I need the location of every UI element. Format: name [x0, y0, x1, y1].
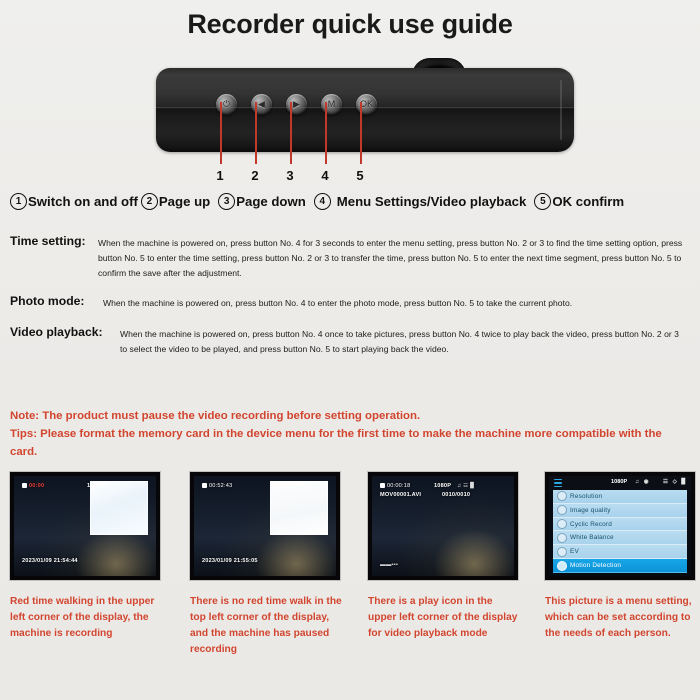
- screen-paused: 00:52:43 1080P ⚙ △ ◇ ☲ 2023/01/09 21:55:…: [194, 476, 336, 576]
- leader-number-3: 3: [283, 168, 297, 183]
- status-icons-menu-right: ☲ ◇ ▉: [663, 479, 687, 485]
- ok-icon: OK: [360, 100, 373, 109]
- legend-label-4: Menu Settings/Video playback: [337, 194, 527, 209]
- instruction-term-photo-mode: Photo mode:: [10, 293, 98, 310]
- legend-item-1: 1 Switch on and off: [10, 193, 141, 210]
- menu-label-motion-detection: Motion Detection: [570, 562, 621, 569]
- caption-recording: Red time walking in the upper left corne…: [10, 594, 160, 642]
- paused-indicator: 00:52:43: [202, 483, 232, 489]
- timestamp-2: 2023/01/09 21:55:05: [202, 558, 258, 564]
- device-body: ⏻ ◀ ▶ M OK: [156, 68, 574, 152]
- legend-label-3: Page down: [236, 194, 306, 209]
- ev-icon: [557, 547, 567, 557]
- screen-playback: 00:00:18 1080P ♫ ☲ ▉ MOV00001.AVI 0010/0…: [372, 476, 514, 576]
- arrow-right-icon: ▶: [293, 100, 300, 109]
- leader-number-2: 2: [248, 168, 262, 183]
- recording-timer: 00:00: [29, 483, 44, 489]
- thumbnail-recording: 00:00 1080P ⚙ △ ◇ ☲ 2023/01/09 21:54:44: [10, 472, 160, 580]
- legend-circle-1: 1: [10, 193, 27, 210]
- menu-item-list: Resolution Image quality Cyclic Record W…: [553, 490, 687, 573]
- caption-playback: There is a play icon in the upper left c…: [368, 594, 523, 642]
- thumbnail-playback: 00:00:18 1080P ♫ ☲ ▉ MOV00001.AVI 0010/0…: [368, 472, 518, 580]
- preview-pane-2: [270, 481, 328, 535]
- leader-number-1: 1: [213, 168, 227, 183]
- instruction-photo-mode: Photo mode: When the machine is powered …: [10, 293, 690, 311]
- screen-menu: 1080P ♫ ◉ ☲ ◇ ▉ Resolution Image quality: [549, 476, 691, 576]
- menu-item-cyclic-record[interactable]: Cyclic Record: [553, 518, 687, 532]
- leader-line-2: [255, 102, 257, 164]
- leader-line-1: [220, 102, 222, 164]
- leader-line-4: [325, 102, 327, 164]
- resolution-label-4: 1080P: [611, 479, 627, 485]
- menu-label-white-balance: White Balance: [570, 534, 614, 541]
- power-icon: ⏻: [223, 100, 230, 109]
- legend-item-5: 5 OK confirm: [534, 193, 627, 210]
- status-icons-3: ♫ ☲ ▉: [457, 483, 475, 489]
- menu-item-motion-detection[interactable]: Motion Detection: [553, 559, 687, 573]
- button-legend: 1 Switch on and off 2 Page up 3 Page dow…: [10, 190, 694, 212]
- legend-item-4: 4 Menu Settings/Video playback: [314, 193, 530, 210]
- instruction-list: Time setting: When the machine is powere…: [10, 233, 690, 370]
- caption-menu: This picture is a menu setting, which ca…: [545, 594, 695, 642]
- playback-indicator: 00:00:18: [380, 483, 410, 489]
- device-photo: ⏻ ◀ ▶ M OK: [150, 58, 580, 168]
- instruction-video-playback: Video playback: When the machine is powe…: [10, 324, 690, 357]
- record-dot-icon: [202, 483, 207, 488]
- recording-indicator: 00:00: [22, 483, 44, 489]
- playback-counter: 0010/0010: [442, 492, 470, 498]
- menu-label-cyclic-record: Cyclic Record: [570, 521, 612, 528]
- instruction-body-time-setting: When the machine is powered on, press bu…: [98, 233, 683, 280]
- record-dot-icon: [22, 483, 27, 488]
- instruction-term-video-playback: Video playback:: [10, 324, 120, 341]
- menu-label-image-quality: Image quality: [570, 507, 611, 514]
- menu-status-bar: 1080P ♫ ◉ ☲ ◇ ▉: [549, 476, 691, 490]
- guide-page: Recorder quick use guide ⏻ ◀ ▶ M OK: [0, 0, 700, 700]
- caption-paused: There is no red time walk in the top lef…: [190, 594, 345, 658]
- instruction-term-time-setting: Time setting:: [10, 233, 98, 250]
- leader-line-5: [360, 102, 362, 164]
- menu-label-ev: EV: [570, 548, 579, 555]
- screen-recording: 00:00 1080P ⚙ △ ◇ ☲ 2023/01/09 21:54:44: [14, 476, 156, 576]
- tips-text: Tips: Please format the memory card in t…: [10, 425, 692, 461]
- notes-section: Note: The product must pause the video r…: [10, 407, 692, 461]
- legend-label-2: Page up: [159, 194, 210, 209]
- device-seam: [560, 80, 562, 140]
- menu-item-white-balance[interactable]: White Balance: [553, 531, 687, 545]
- note-text: Note: The product must pause the video r…: [10, 407, 692, 425]
- playback-filename: MOV00001.AVI: [380, 492, 421, 498]
- menu-item-image-quality[interactable]: Image quality: [553, 504, 687, 518]
- preview-pane-1: [90, 481, 148, 535]
- legend-label-1: Switch on and off: [28, 194, 138, 209]
- timestamp-1: 2023/01/09 21:54:44: [22, 558, 78, 564]
- legend-circle-5: 5: [534, 193, 551, 210]
- motion-detection-icon: [557, 561, 567, 571]
- playback-progress: ▬▬▪▪▪: [380, 562, 398, 568]
- legend-item-2: 2 Page up: [141, 193, 213, 210]
- resolution-label-3: 1080P: [434, 483, 451, 489]
- menu-item-ev[interactable]: EV: [553, 545, 687, 559]
- instruction-body-photo-mode: When the machine is powered on, press bu…: [98, 293, 663, 311]
- status-icons-menu-left: ♫ ◉: [635, 479, 650, 485]
- arrow-left-icon: ◀: [258, 100, 265, 109]
- legend-circle-4: 4: [314, 193, 331, 210]
- thumbnail-paused: 00:52:43 1080P ⚙ △ ◇ ☲ 2023/01/09 21:55:…: [190, 472, 340, 580]
- legend-circle-2: 2: [141, 193, 158, 210]
- page-title: Recorder quick use guide: [0, 9, 700, 40]
- menu-hamburger-icon[interactable]: [554, 479, 562, 487]
- image-quality-icon: [557, 505, 567, 515]
- instruction-body-video-playback: When the machine is powered on, press bu…: [120, 324, 680, 357]
- play-icon: [380, 483, 385, 488]
- leader-number-5: 5: [353, 168, 367, 183]
- legend-circle-3: 3: [218, 193, 235, 210]
- screen-examples: 00:00 1080P ⚙ △ ◇ ☲ 2023/01/09 21:54:44 …: [0, 472, 700, 587]
- resolution-icon: [557, 491, 567, 501]
- menu-item-resolution[interactable]: Resolution: [553, 490, 687, 504]
- leader-line-3: [290, 102, 292, 164]
- leader-number-4: 4: [318, 168, 332, 183]
- thumbnail-menu: 1080P ♫ ◉ ☲ ◇ ▉ Resolution Image quality: [545, 472, 695, 580]
- cyclic-record-icon: [557, 519, 567, 529]
- white-balance-icon: [557, 533, 567, 543]
- paused-timer: 00:52:43: [209, 483, 232, 489]
- legend-item-3: 3 Page down: [218, 193, 309, 210]
- menu-icon: M: [328, 100, 336, 109]
- playback-timer: 00:00:18: [387, 483, 410, 489]
- instruction-time-setting: Time setting: When the machine is powere…: [10, 233, 690, 280]
- legend-label-5: OK confirm: [552, 194, 624, 209]
- menu-label-resolution: Resolution: [570, 493, 602, 500]
